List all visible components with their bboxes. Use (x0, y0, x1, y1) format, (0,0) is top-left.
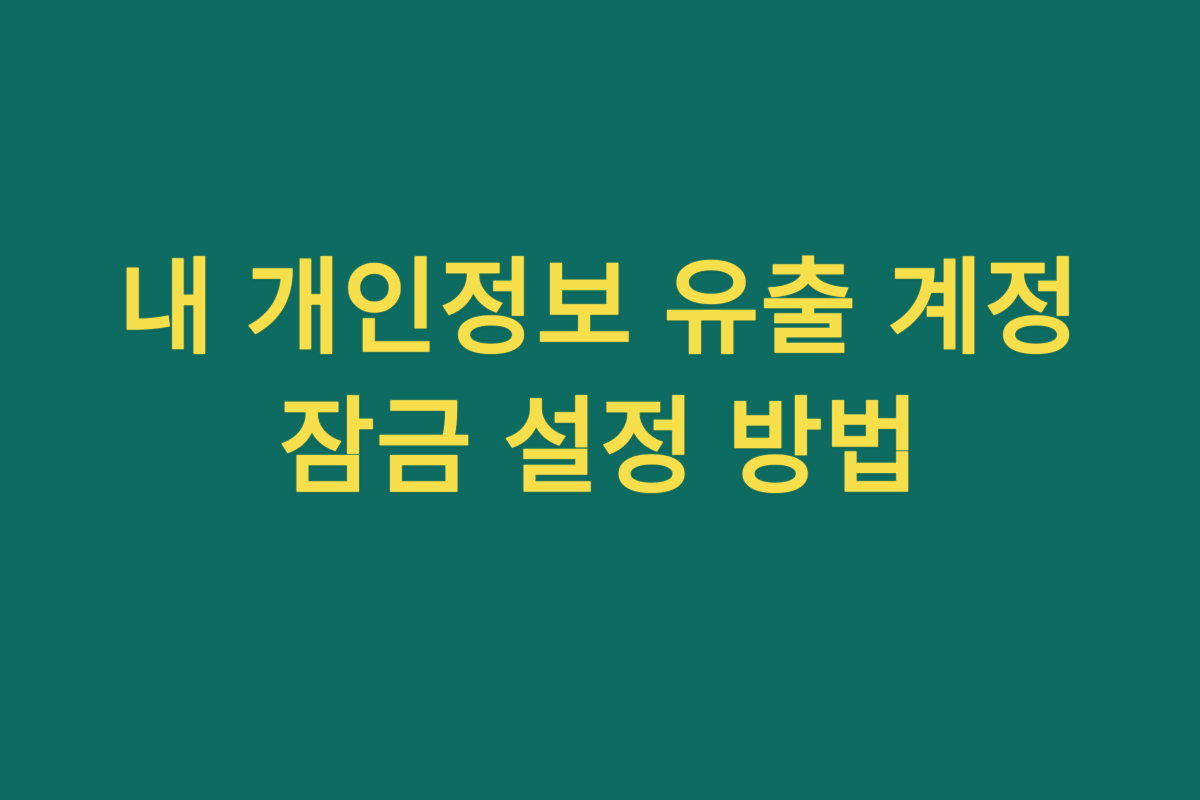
headline-line-1: 내 개인정보 유출 계정 (0, 241, 1200, 378)
banner-canvas: 내 개인정보 유출 계정 잠금 설정 방법 (0, 0, 1200, 800)
headline-line-2: 잠금 설정 방법 (0, 380, 1200, 517)
page-title: 내 개인정보 유출 계정 잠금 설정 방법 (0, 241, 1200, 560)
